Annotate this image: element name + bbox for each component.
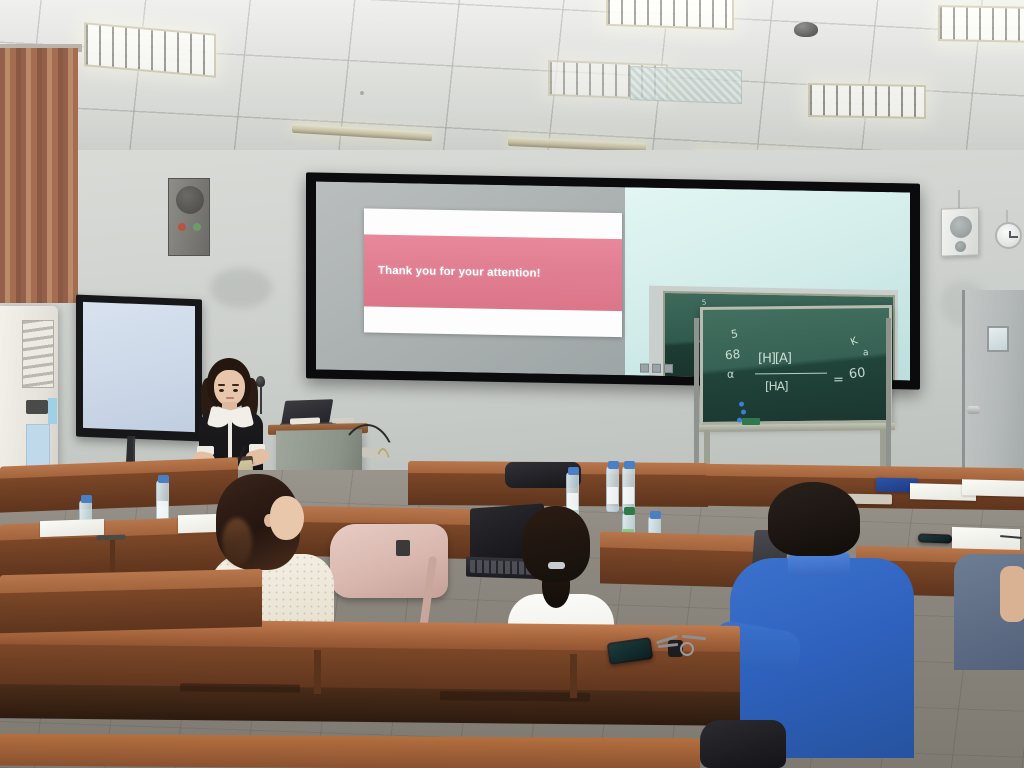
presenter-face <box>214 370 245 406</box>
presenter-eye <box>233 389 238 392</box>
presenter-eyebrow <box>218 384 225 386</box>
wall-stain <box>210 268 272 308</box>
desk-wear-mark <box>440 691 590 702</box>
backpack-tag <box>396 540 410 556</box>
ac-air-vent <box>22 320 54 388</box>
student-1-face <box>270 496 304 540</box>
chalkboard-formula: [H][A] <box>758 351 791 366</box>
student-3-hair <box>768 482 860 556</box>
presenter-eye <box>219 389 224 392</box>
speaker-cone <box>950 216 972 239</box>
door-handle[interactable] <box>967 406 980 414</box>
presenter-mouth <box>226 397 234 399</box>
chalkboard-note: 60 <box>848 365 866 382</box>
bottle-cap <box>608 461 619 469</box>
bottle-label <box>157 501 168 518</box>
projected-button <box>640 363 649 372</box>
chalkboard-note: = <box>833 372 844 387</box>
ac-display <box>26 400 48 414</box>
presentation-slide: Thank you for your attention! <box>364 208 622 337</box>
student-2-hair-tie <box>548 562 565 569</box>
bottle-label <box>607 487 618 504</box>
chalkboard-note: K <box>849 336 859 349</box>
speaker-indicator-green <box>193 223 201 231</box>
podium-remote[interactable] <box>332 418 354 424</box>
slide-headline: Thank you for your attention! <box>364 234 622 311</box>
desk-phone-back[interactable] <box>918 533 952 543</box>
door-vision-panel <box>987 326 1009 352</box>
desk-front-panel <box>0 587 262 633</box>
student-3-collar <box>787 552 850 577</box>
bottle-cap <box>650 511 661 519</box>
projected-control-buttons <box>640 363 673 373</box>
key-ring <box>680 642 694 656</box>
wall-clock <box>995 222 1022 249</box>
ac-label-sticker <box>48 398 57 424</box>
podium-paper <box>290 417 320 424</box>
clock-minute-hand <box>1009 236 1018 238</box>
classroom-door[interactable] <box>962 290 1024 495</box>
wall-speaker-left <box>168 178 210 256</box>
chalkboard-formula: [HA] <box>765 379 788 393</box>
desk-glasses <box>96 534 126 540</box>
bottle-cap <box>568 467 579 475</box>
student-2-hair <box>522 506 590 582</box>
floor-bag <box>700 720 786 768</box>
board-magnet[interactable] <box>741 410 746 415</box>
student-4-arm <box>1000 566 1024 622</box>
desk-divider <box>314 650 321 694</box>
slide-pink-band: Thank you for your attention! <box>364 234 622 311</box>
bottle-label <box>623 487 634 504</box>
desk-divider <box>110 538 115 574</box>
chalkboard-fraction-bar <box>755 373 827 375</box>
speaker-cone <box>176 186 204 214</box>
desk-wear-mark <box>180 683 300 692</box>
wall-speaker-right <box>941 207 979 256</box>
bottle-cap <box>81 495 92 503</box>
hair-highlight <box>222 518 252 566</box>
water-bottle[interactable] <box>622 466 635 512</box>
green-chalkboard: 5 68 α [H][A] [HA] = 60 K a <box>700 305 892 427</box>
blackboard-eraser[interactable] <box>742 418 760 425</box>
speaker-tweeter <box>955 241 966 252</box>
phone-screen <box>920 535 950 541</box>
screen-support-post <box>886 318 891 488</box>
whiteboard-screen[interactable] <box>83 302 195 432</box>
desk-papers <box>952 527 1020 551</box>
phone-screen[interactable] <box>609 639 651 662</box>
bottle-cap <box>624 461 635 469</box>
desk-divider <box>570 654 577 698</box>
lecture-hall-photo: Thank you for your attention! 5 68 \u03b… <box>0 0 1024 768</box>
board-magnet[interactable] <box>739 402 744 407</box>
water-bottle[interactable] <box>606 466 619 512</box>
window-curtain <box>0 48 78 303</box>
projected-button <box>664 364 673 373</box>
chalkboard-note: 5 <box>730 327 739 341</box>
presenter-eyebrow <box>232 384 239 386</box>
chalkboard-note: α <box>727 368 734 381</box>
desk-row-foreground <box>0 734 700 768</box>
desk-papers <box>40 519 104 537</box>
bottle-cap <box>158 475 169 483</box>
projected-button <box>652 364 661 373</box>
desk-papers <box>962 479 1024 497</box>
chalkboard-note: a <box>863 348 869 358</box>
chalkboard-note: 68 <box>724 347 740 362</box>
speaker-indicator-red <box>178 223 186 231</box>
bottle-cap <box>624 507 635 515</box>
